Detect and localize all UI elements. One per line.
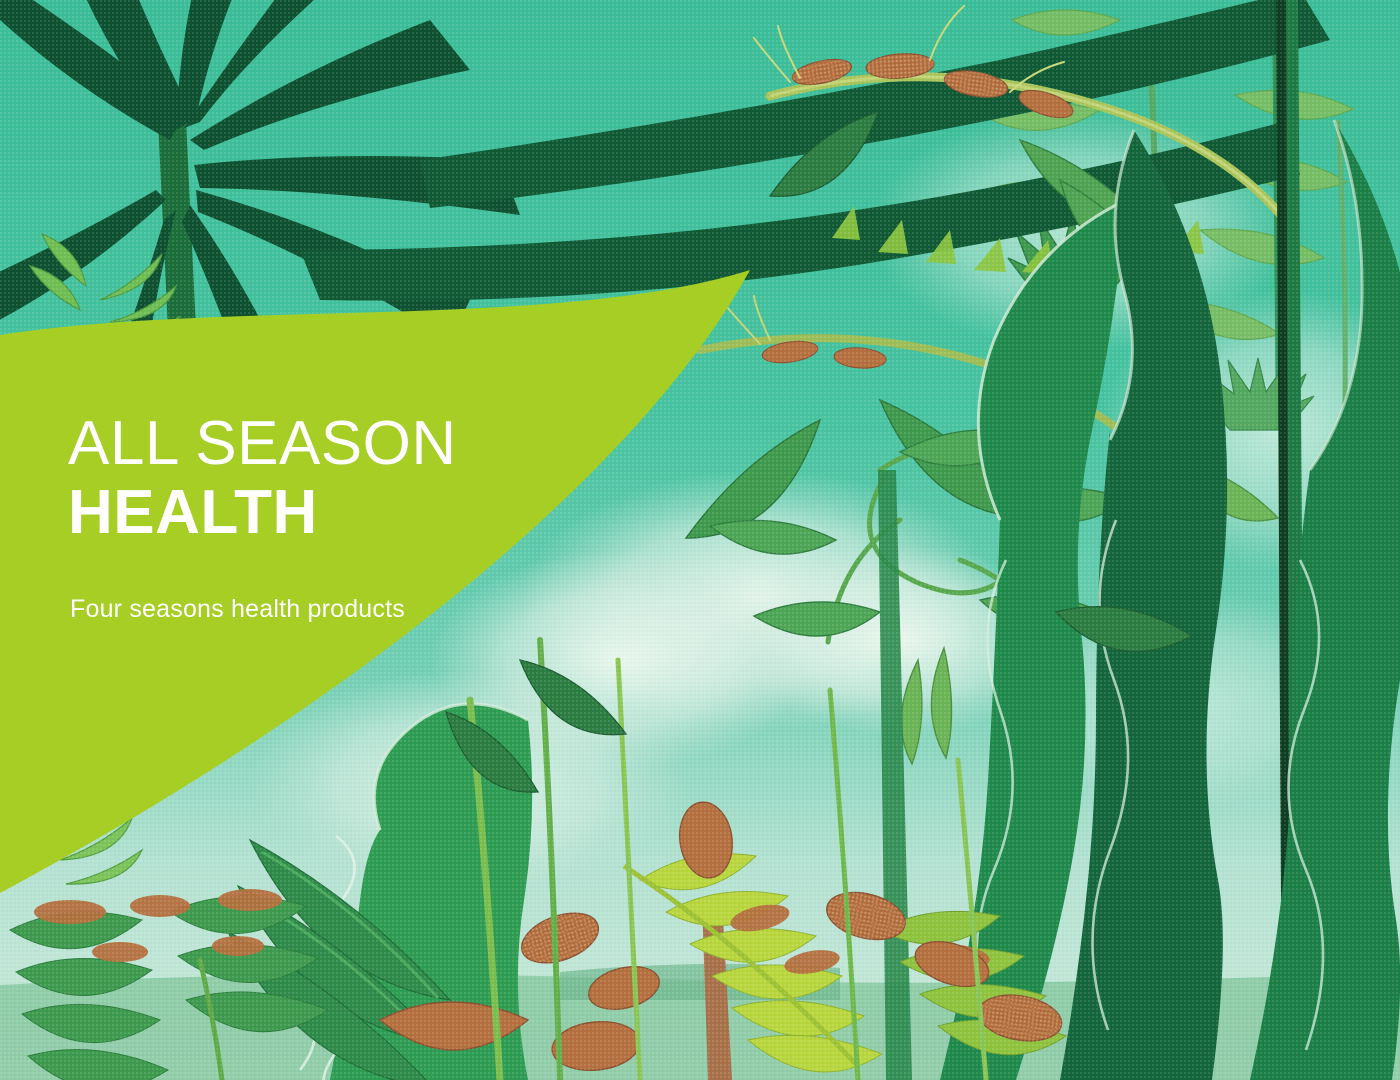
poster-canvas: ALL SEASON HEALTH Four seasons health pr… (0, 0, 1400, 1080)
leaf-panel-shape (0, 0, 1400, 1080)
leaf-panel-fill (0, 270, 750, 893)
